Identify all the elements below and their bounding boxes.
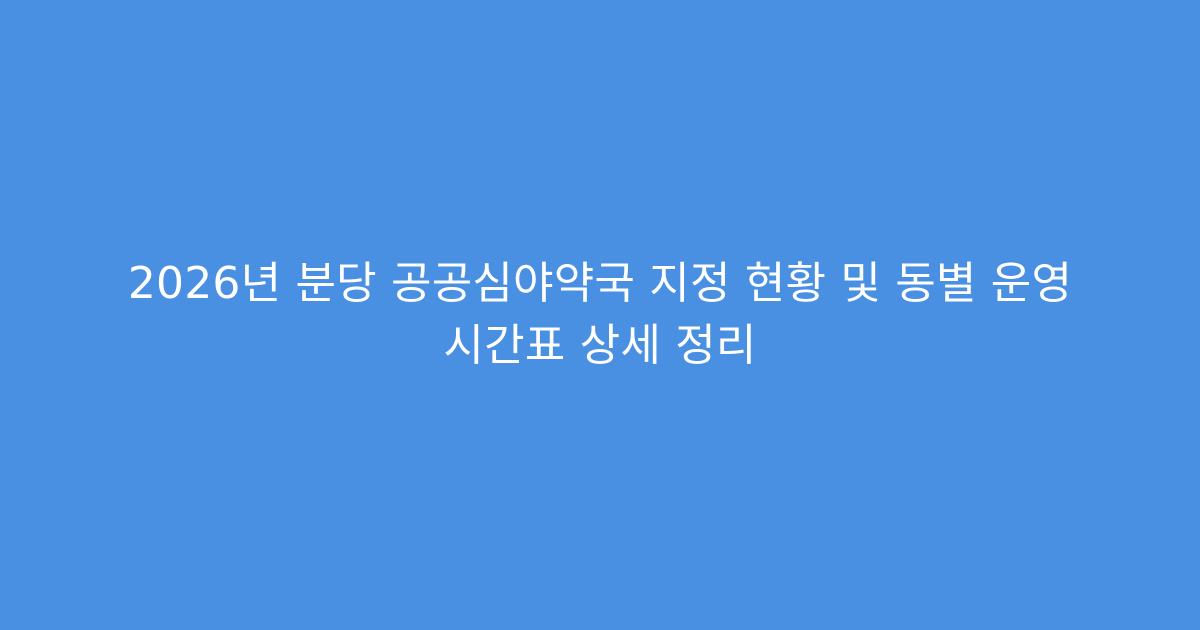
title-block: 2026년 분당 공공심야약국 지정 현황 및 동별 운영 시간표 상세 정리 [60, 253, 1140, 377]
og-card: 2026년 분당 공공심야약국 지정 현황 및 동별 운영 시간표 상세 정리 [0, 0, 1200, 630]
page-title: 2026년 분당 공공심야약국 지정 현황 및 동별 운영 시간표 상세 정리 [64, 253, 1136, 377]
